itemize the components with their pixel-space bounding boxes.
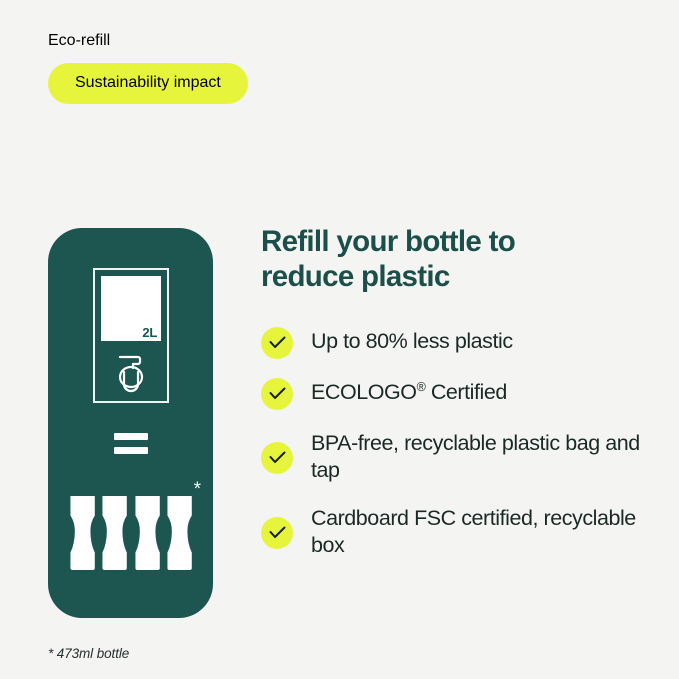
badge-label: Sustainability impact [75,74,221,91]
status-badge: Sustainability impact [48,63,248,104]
check-icon [261,517,293,549]
footnote: * 473ml bottle [48,646,129,661]
pouch-volume-label: 2L [142,325,157,340]
product-illustration-card: 2L * [48,228,213,618]
content-heading-line1: Refill your bottle to [261,225,515,258]
content-heading: Refill your bottle to reduce plastic [261,225,651,295]
page-title: Eco-refill [48,32,248,50]
check-icon [261,442,293,474]
list-item: BPA-free, recyclable plastic bag and tap [261,429,651,485]
bottle-icon [166,493,193,573]
content-panel: Refill your bottle to reduce plastic Up … [261,225,651,560]
bottle-group [69,493,193,573]
list-item: Cardboard FSC certified, recyclable box [261,504,651,560]
check-icon [261,327,293,359]
content-heading-line2: reduce plastic [261,260,450,293]
check-icon [261,378,293,410]
equals-bar-top [114,433,148,440]
bottle-icon [69,493,96,573]
asterisk-marker: * [194,480,201,499]
tap-icon [112,350,150,394]
pouch-fill-area: 2L [101,276,161,341]
bottle-icon [134,493,161,573]
list-item: ECOLOGO® Certified [261,378,651,410]
feature-text: ECOLOGO® Certified [311,378,507,407]
bottle-icon [101,493,128,573]
feature-text: BPA-free, recyclable plastic bag and tap [311,429,651,485]
feature-text: Cardboard FSC certified, recyclable box [311,504,651,560]
equals-bar-bottom [114,447,148,454]
list-item: Up to 80% less plastic [261,327,651,359]
feature-text: Up to 80% less plastic [311,327,513,356]
equals-icon [114,433,148,454]
refill-box-graphic: 2L [93,268,169,403]
header: Eco-refill Sustainability impact [48,32,248,104]
feature-list: Up to 80% less plastic ECOLOGO® Certifie… [261,327,651,560]
